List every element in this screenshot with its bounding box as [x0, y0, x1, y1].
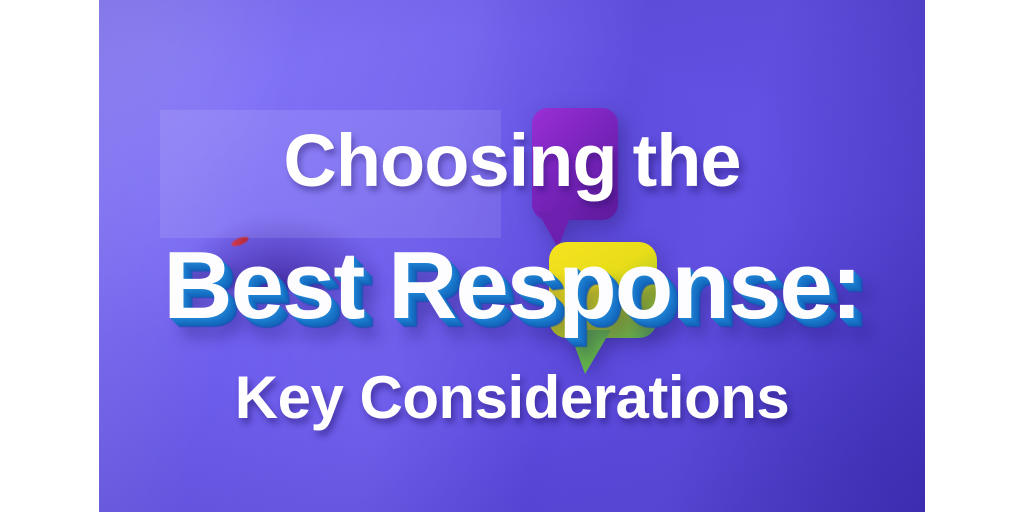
title-line-1: Choosingthe [99, 124, 925, 198]
title-line-3-subtitle: Key Considerations [99, 368, 925, 428]
title-line-2: Best Response: [99, 238, 925, 334]
title-text-block: Choosingthe Best Response: Key Considera… [99, 0, 925, 512]
title-word-the: the [633, 124, 741, 198]
title-banner: Choosingthe Best Response: Key Considera… [99, 0, 925, 512]
image-frame: Choosingthe Best Response: Key Considera… [0, 0, 1024, 512]
title-word-choosing: Choosing [283, 124, 616, 198]
